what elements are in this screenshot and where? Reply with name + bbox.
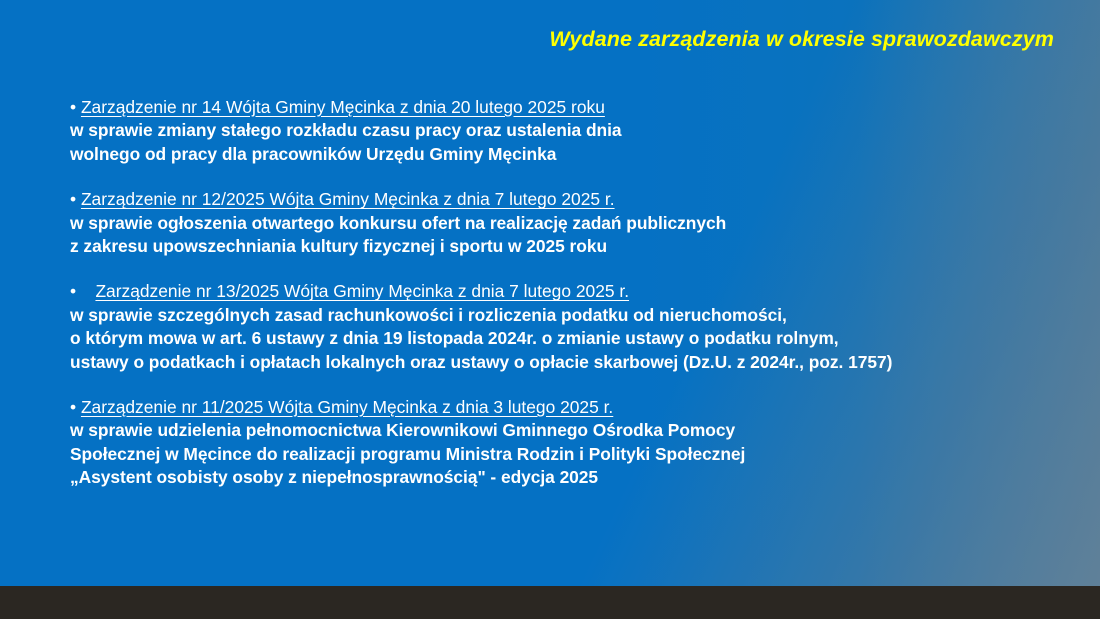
footer-bar — [0, 586, 1100, 619]
list-item: • Zarządzenie nr 13/2025 Wójta Gminy Męc… — [70, 280, 1080, 374]
presentation-slide: Wydane zarządzenia w okresie sprawozdawc… — [0, 0, 1100, 619]
list-item-body-line: z zakresu upowszechniania kultury fizycz… — [70, 235, 1080, 258]
list-item: • Zarządzenie nr 12/2025 Wójta Gminy Męc… — [70, 188, 1080, 258]
list-item-heading-text: Zarządzenie nr 14 Wójta Gminy Męcinka z … — [81, 97, 605, 117]
list-item-body-line: wolnego od pracy dla pracowników Urzędu … — [70, 143, 1080, 166]
list-item-heading: • Zarządzenie nr 11/2025 Wójta Gminy Męc… — [70, 396, 1080, 419]
bullet-icon: • — [70, 397, 76, 417]
list-item-heading: • Zarządzenie nr 13/2025 Wójta Gminy Męc… — [70, 280, 1080, 303]
list-item-heading-text: Zarządzenie nr 11/2025 Wójta Gminy Męcin… — [81, 397, 613, 417]
list-item-body-line: w sprawie zmiany stałego rozkładu czasu … — [70, 119, 1080, 142]
list-item-heading-text: Zarządzenie nr 12/2025 Wójta Gminy Męcin… — [81, 189, 615, 209]
bullet-icon: • — [70, 97, 76, 117]
list-item-body-line: o którym mowa w art. 6 ustawy z dnia 19 … — [70, 327, 1080, 350]
list-item: • Zarządzenie nr 11/2025 Wójta Gminy Męc… — [70, 396, 1080, 490]
list-item-body-line: w sprawie ogłoszenia otwartego konkursu … — [70, 212, 1080, 235]
page-title: Wydane zarządzenia w okresie sprawozdawc… — [0, 27, 1054, 52]
list-item-body-line: Społecznej w Męcince do realizacji progr… — [70, 443, 1080, 466]
list-item-heading-text: Zarządzenie nr 13/2025 Wójta Gminy Męcin… — [95, 281, 629, 301]
list-item-body-line: w sprawie szczególnych zasad rachunkowoś… — [70, 304, 1080, 327]
list-item-body-line: ustawy o podatkach i opłatach lokalnych … — [70, 351, 1080, 374]
bullet-icon: • — [70, 281, 91, 301]
list-item: • Zarządzenie nr 14 Wójta Gminy Męcinka … — [70, 96, 1080, 166]
list-item-body-line: w sprawie udzielenia pełnomocnictwa Kier… — [70, 419, 1080, 442]
list-item-heading: • Zarządzenie nr 14 Wójta Gminy Męcinka … — [70, 96, 1080, 119]
list-item-heading: • Zarządzenie nr 12/2025 Wójta Gminy Męc… — [70, 188, 1080, 211]
list-item-body-line: „Asystent osobisty osoby z niepełnospraw… — [70, 466, 1080, 489]
bullet-icon: • — [70, 189, 76, 209]
bullet-list: • Zarządzenie nr 14 Wójta Gminy Męcinka … — [70, 96, 1080, 490]
